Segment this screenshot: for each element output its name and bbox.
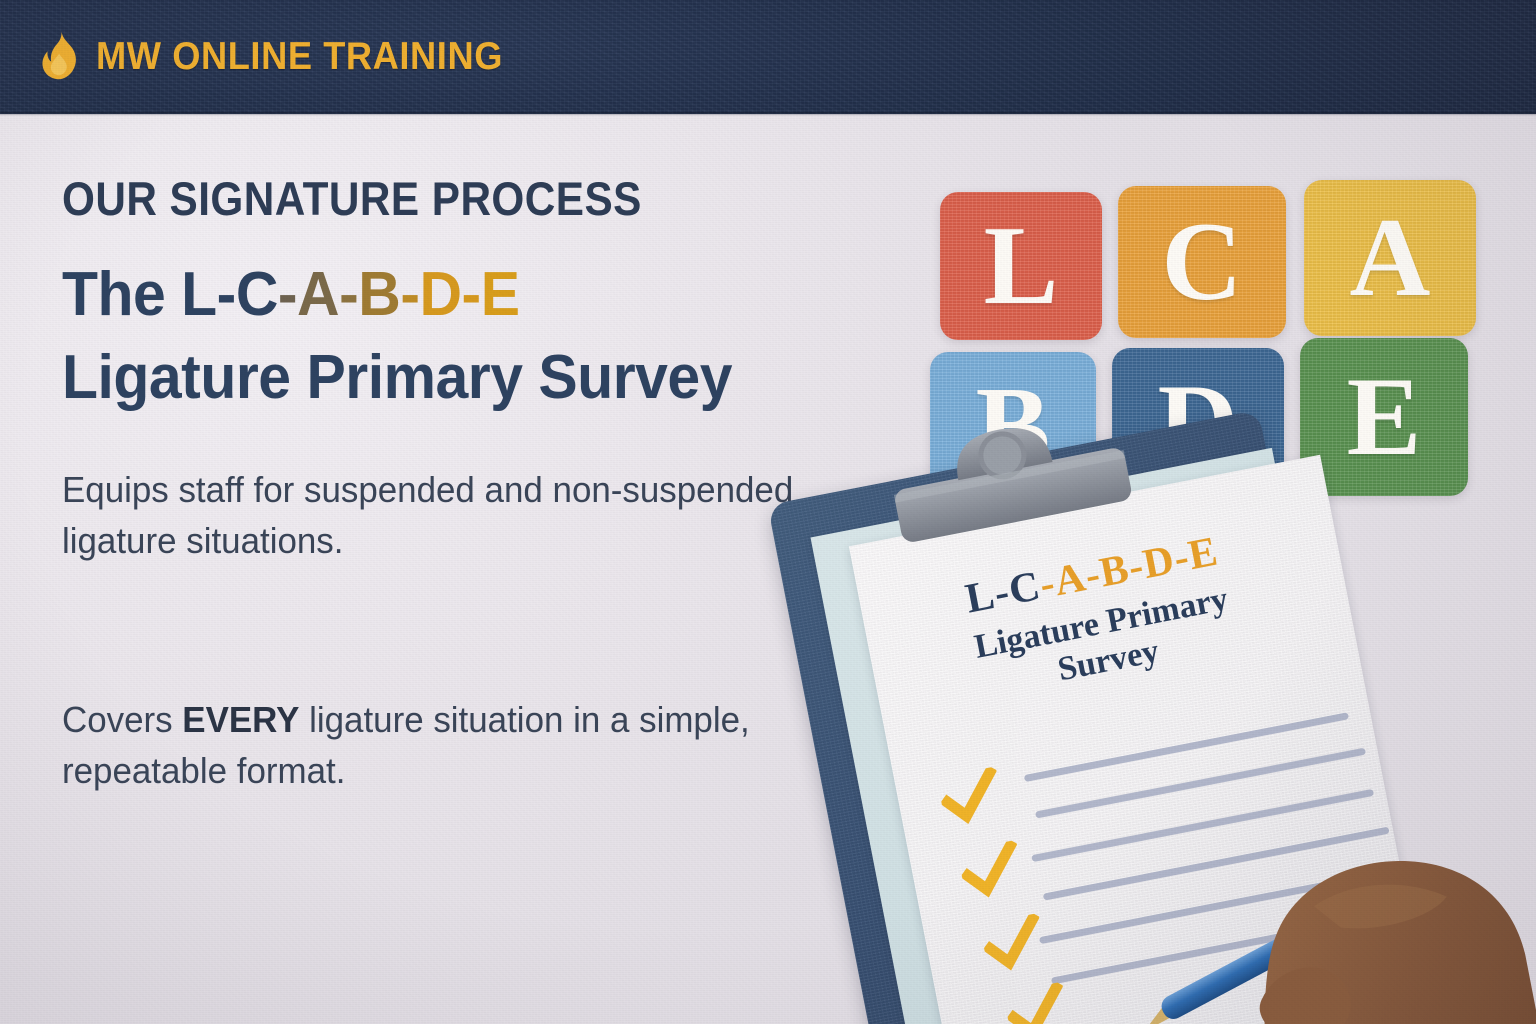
seq-letter-a: A [297, 260, 339, 329]
tile-letter-c: C [1162, 206, 1243, 318]
seq-dash-2: - [278, 260, 297, 329]
checkmark-icon [937, 766, 1007, 832]
brand-name: MW ONLINE TRAINING [96, 35, 503, 79]
page-title-line2: Ligature Primary Survey [62, 345, 851, 412]
seq-dash-5: - [462, 260, 481, 329]
text-column: OUR SIGNATURE PROCESS The L-C-A-B-D-E Li… [62, 175, 892, 796]
letter-tile-a: A [1304, 180, 1476, 336]
brand-lockup[interactable]: MW ONLINE TRAINING [40, 0, 534, 114]
page-title-line1: The L-C-A-B-D-E [62, 262, 851, 329]
artwork-panel: L C A B D E L-C-A-B-D-E Ligature Primary [900, 120, 1536, 1024]
paragraph-two-before: Covers [62, 699, 182, 740]
eyebrow-label: OUR SIGNATURE PROCESS [62, 175, 809, 222]
checkmark-icon [979, 913, 1049, 979]
seq-letter-l: L [181, 260, 217, 329]
flame-icon [40, 31, 80, 83]
header-bottom-edge [0, 112, 1536, 116]
letter-tile-c: C [1118, 186, 1286, 338]
seq-letter-d: D [419, 260, 461, 329]
seq-dash-4: - [400, 260, 419, 329]
poster-canvas: MW ONLINE TRAINING OUR SIGNATURE PROCESS… [0, 0, 1536, 1024]
seq-letter-c: C [236, 260, 278, 329]
seq-dash-1: - [217, 260, 236, 329]
clipboard: L-C-A-B-D-E Ligature Primary Survey [768, 406, 1393, 1024]
seq-letter-e: E [481, 260, 520, 329]
paragraph-two: Covers EVERY ligature situation in a sim… [62, 694, 867, 796]
tile-letter-a: A [1350, 202, 1431, 314]
title-prefix: The [62, 260, 181, 329]
seq-dash-3: - [339, 260, 358, 329]
checkmark-icon [957, 840, 1027, 906]
paragraph-two-emphasis: EVERY [182, 699, 299, 740]
letter-tile-e: E [1300, 338, 1468, 496]
site-header: MW ONLINE TRAINING [0, 0, 1536, 114]
paragraph-one: Equips staff for suspended and non-suspe… [62, 464, 867, 566]
letter-tile-l: L [940, 192, 1102, 340]
seq-letter-b: B [358, 260, 400, 329]
tile-letter-l: L [984, 210, 1059, 322]
tile-letter-e: E [1347, 361, 1422, 473]
